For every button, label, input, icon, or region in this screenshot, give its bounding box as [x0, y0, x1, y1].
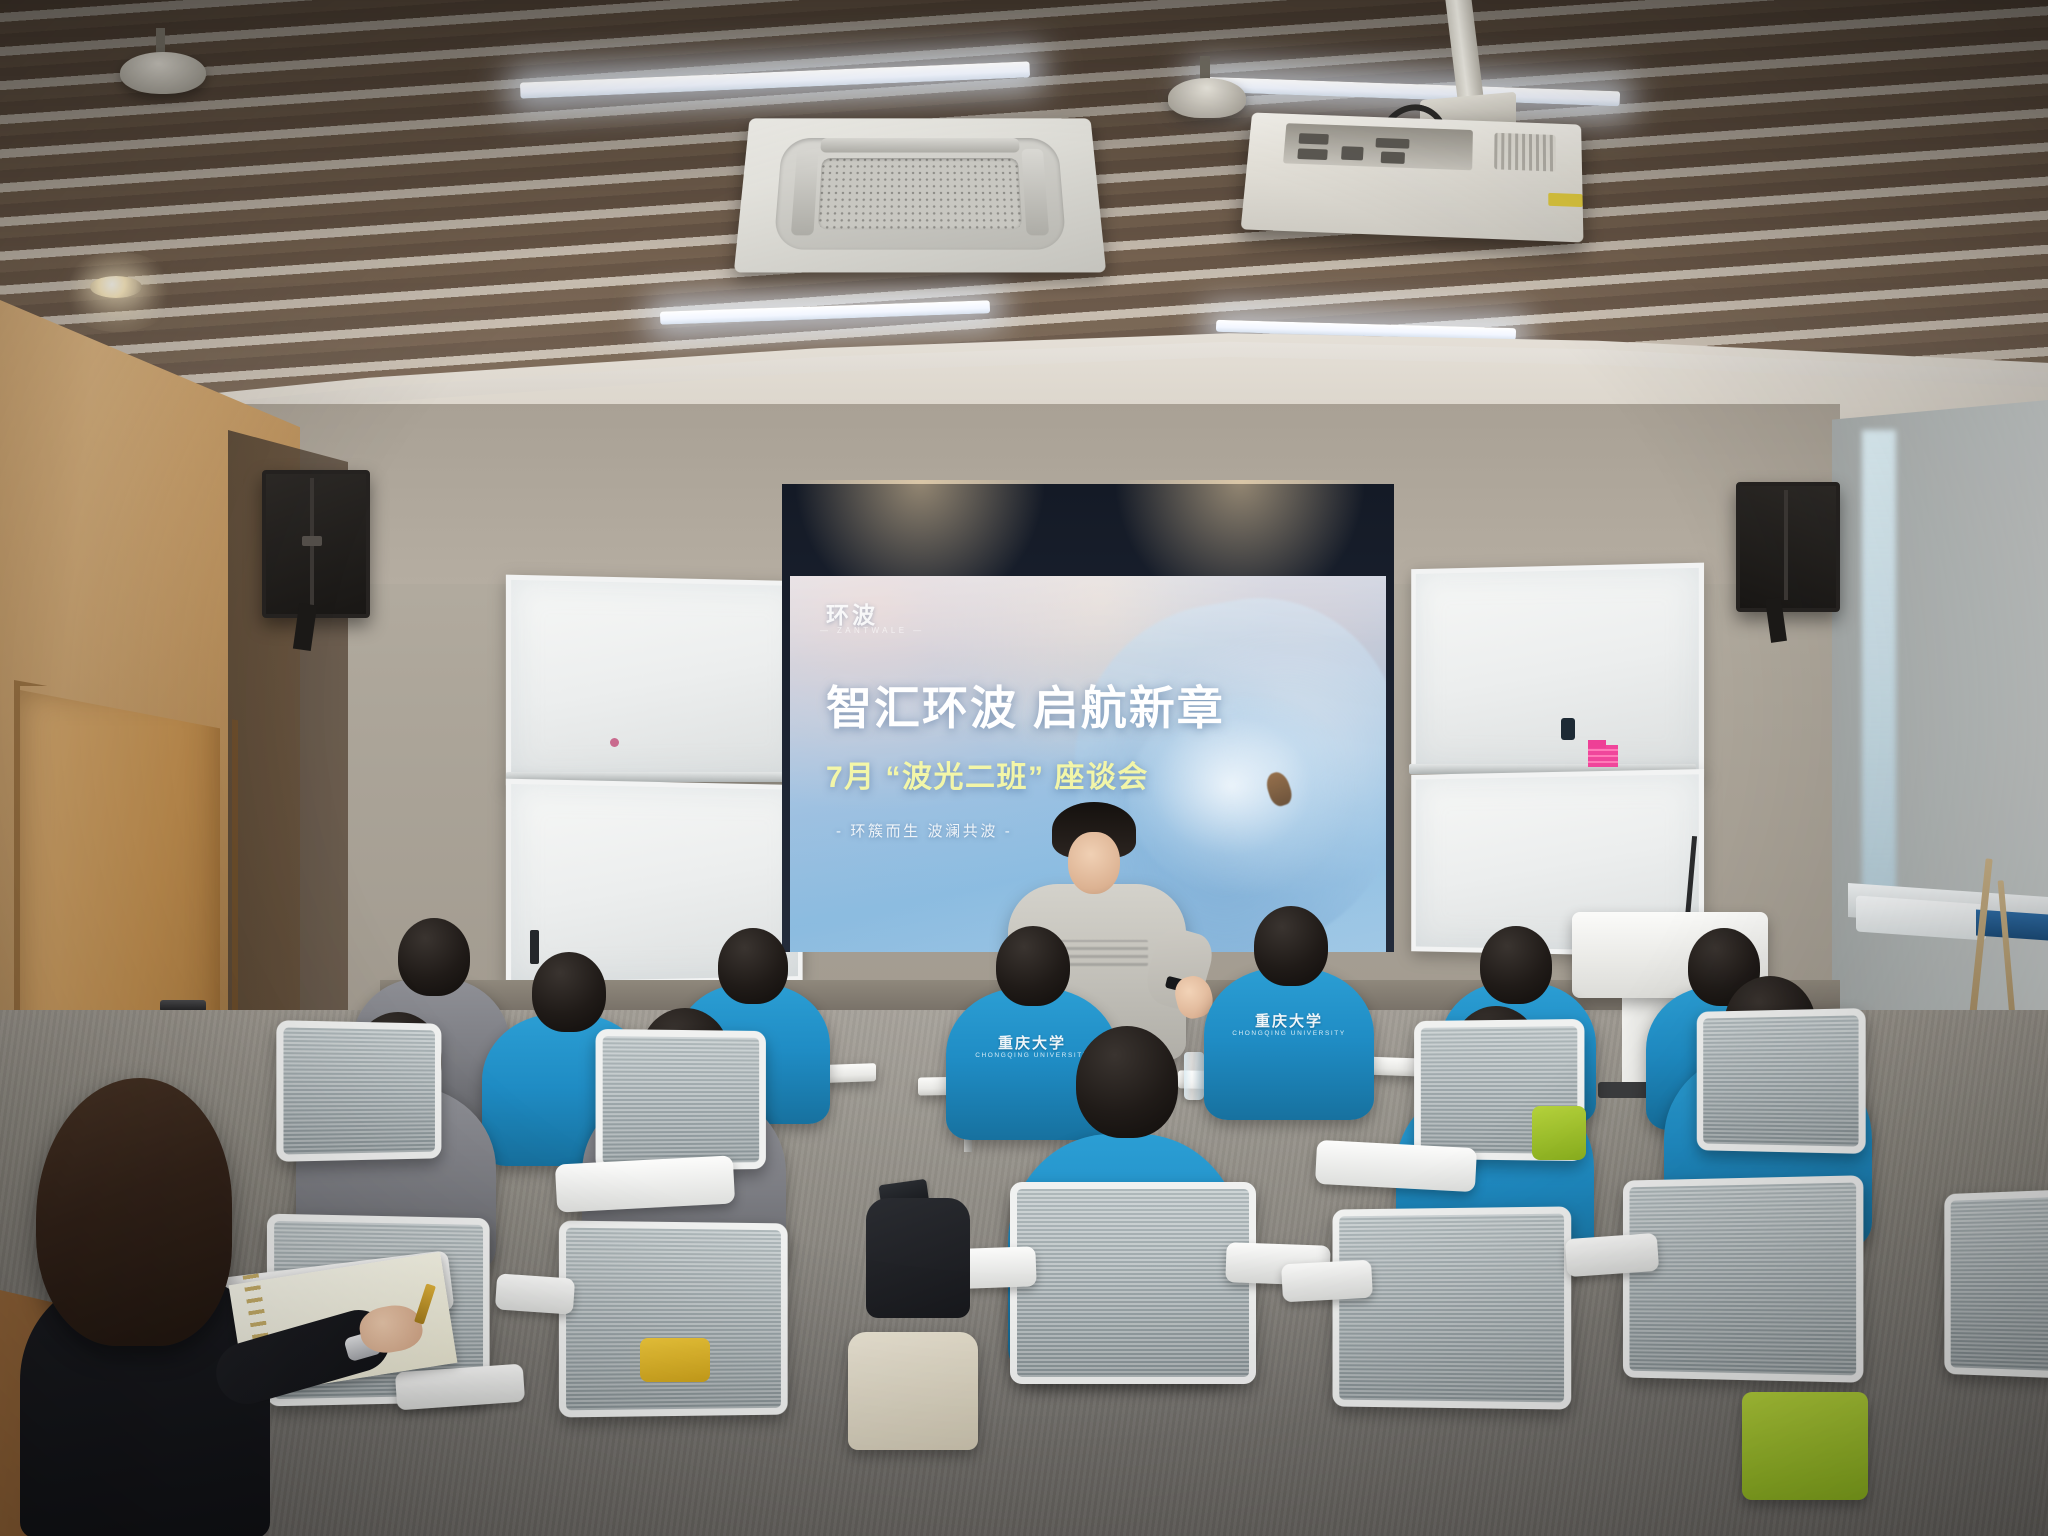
chair-armrest[interactable] — [1281, 1260, 1373, 1303]
sticky-note-pink[interactable] — [1588, 745, 1618, 767]
window-light — [1862, 430, 1896, 900]
student-head — [1480, 926, 1552, 1004]
whiteboard-magnet[interactable] — [1561, 718, 1575, 740]
chair-backrest[interactable] — [1697, 1008, 1866, 1154]
chair-armrest[interactable] — [495, 1273, 575, 1314]
ac-vane — [820, 138, 1019, 153]
student-head — [532, 952, 606, 1032]
tote-bag[interactable] — [848, 1332, 978, 1450]
speaker-logo — [302, 536, 322, 546]
backpack[interactable] — [866, 1198, 970, 1318]
projector-vent — [1494, 133, 1556, 172]
chair-tablet-arm[interactable] — [555, 1155, 735, 1212]
slide-title: 智汇环波 启航新章 — [826, 672, 1225, 738]
dome-speaker — [1168, 78, 1246, 118]
presenter-face — [1068, 832, 1120, 894]
projector-port — [1297, 148, 1328, 160]
green-chair-accent[interactable] — [1742, 1392, 1868, 1500]
student-head — [398, 918, 470, 996]
chair-backrest[interactable] — [1010, 1182, 1256, 1384]
slide-brand-logo-latin: — ZANTWALE — — [820, 626, 925, 635]
projector-port — [1375, 138, 1409, 149]
shirt-text-en: CHONGQING UNIVERSITY — [1204, 1030, 1374, 1037]
wall-speaker-right — [1736, 482, 1840, 612]
student-head — [996, 926, 1070, 1006]
chair-backrest[interactable] — [559, 1221, 788, 1418]
projector-port — [1381, 151, 1405, 163]
chair-backrest[interactable] — [596, 1029, 766, 1171]
projector-port-panel — [1283, 123, 1473, 170]
whiteboard-right-upper[interactable] — [1411, 563, 1704, 778]
slide-brand-logo: 环波 — [826, 596, 878, 630]
student-head — [1076, 1026, 1178, 1138]
water-bottle[interactable] — [1184, 1052, 1204, 1100]
chair-tablet-arm[interactable] — [1315, 1140, 1477, 1192]
whiteboard-left-upper[interactable] — [506, 575, 803, 786]
slide-tagline: - 环簇而生 波澜共波 - — [836, 820, 1012, 841]
yellow-chair-accent[interactable] — [640, 1338, 710, 1382]
ceiling-projector — [1241, 113, 1584, 243]
chair-armrest[interactable] — [1565, 1233, 1659, 1277]
chair-backrest[interactable] — [1944, 1190, 2048, 1378]
air-conditioner-cassette — [734, 118, 1106, 272]
projector-port — [1341, 146, 1364, 160]
chair-backrest[interactable] — [1332, 1206, 1571, 1409]
whiteboard-pink-mark — [610, 738, 619, 747]
slide-subtitle: 7月 “波光二班” 座谈会 — [826, 752, 1149, 796]
chair-backrest[interactable] — [276, 1020, 441, 1162]
seminar-room-photo: 环波 — ZANTWALE — 智汇环波 启航新章 7月 “波光二班” 座谈会 … — [0, 0, 2048, 1536]
student-head — [718, 928, 788, 1004]
shirt-text-cn: 重庆大学 — [1204, 1010, 1374, 1031]
sticky-note-pink[interactable] — [1588, 740, 1606, 748]
student-head — [1254, 906, 1328, 986]
projector-warning-label — [1548, 193, 1583, 207]
speaker-grille-line — [1784, 490, 1788, 600]
downlight — [90, 276, 142, 298]
projector-port — [1299, 133, 1329, 145]
chair-backrest[interactable] — [1623, 1175, 1863, 1382]
whiteboard-marker[interactable] — [530, 930, 539, 964]
ac-grille — [818, 158, 1022, 229]
green-chair-accent[interactable] — [1532, 1106, 1586, 1160]
smoke-detector — [120, 52, 206, 94]
student-torso: 重庆大学 CHONGQING UNIVERSITY — [1204, 968, 1374, 1120]
wall-speaker-left — [262, 470, 370, 618]
